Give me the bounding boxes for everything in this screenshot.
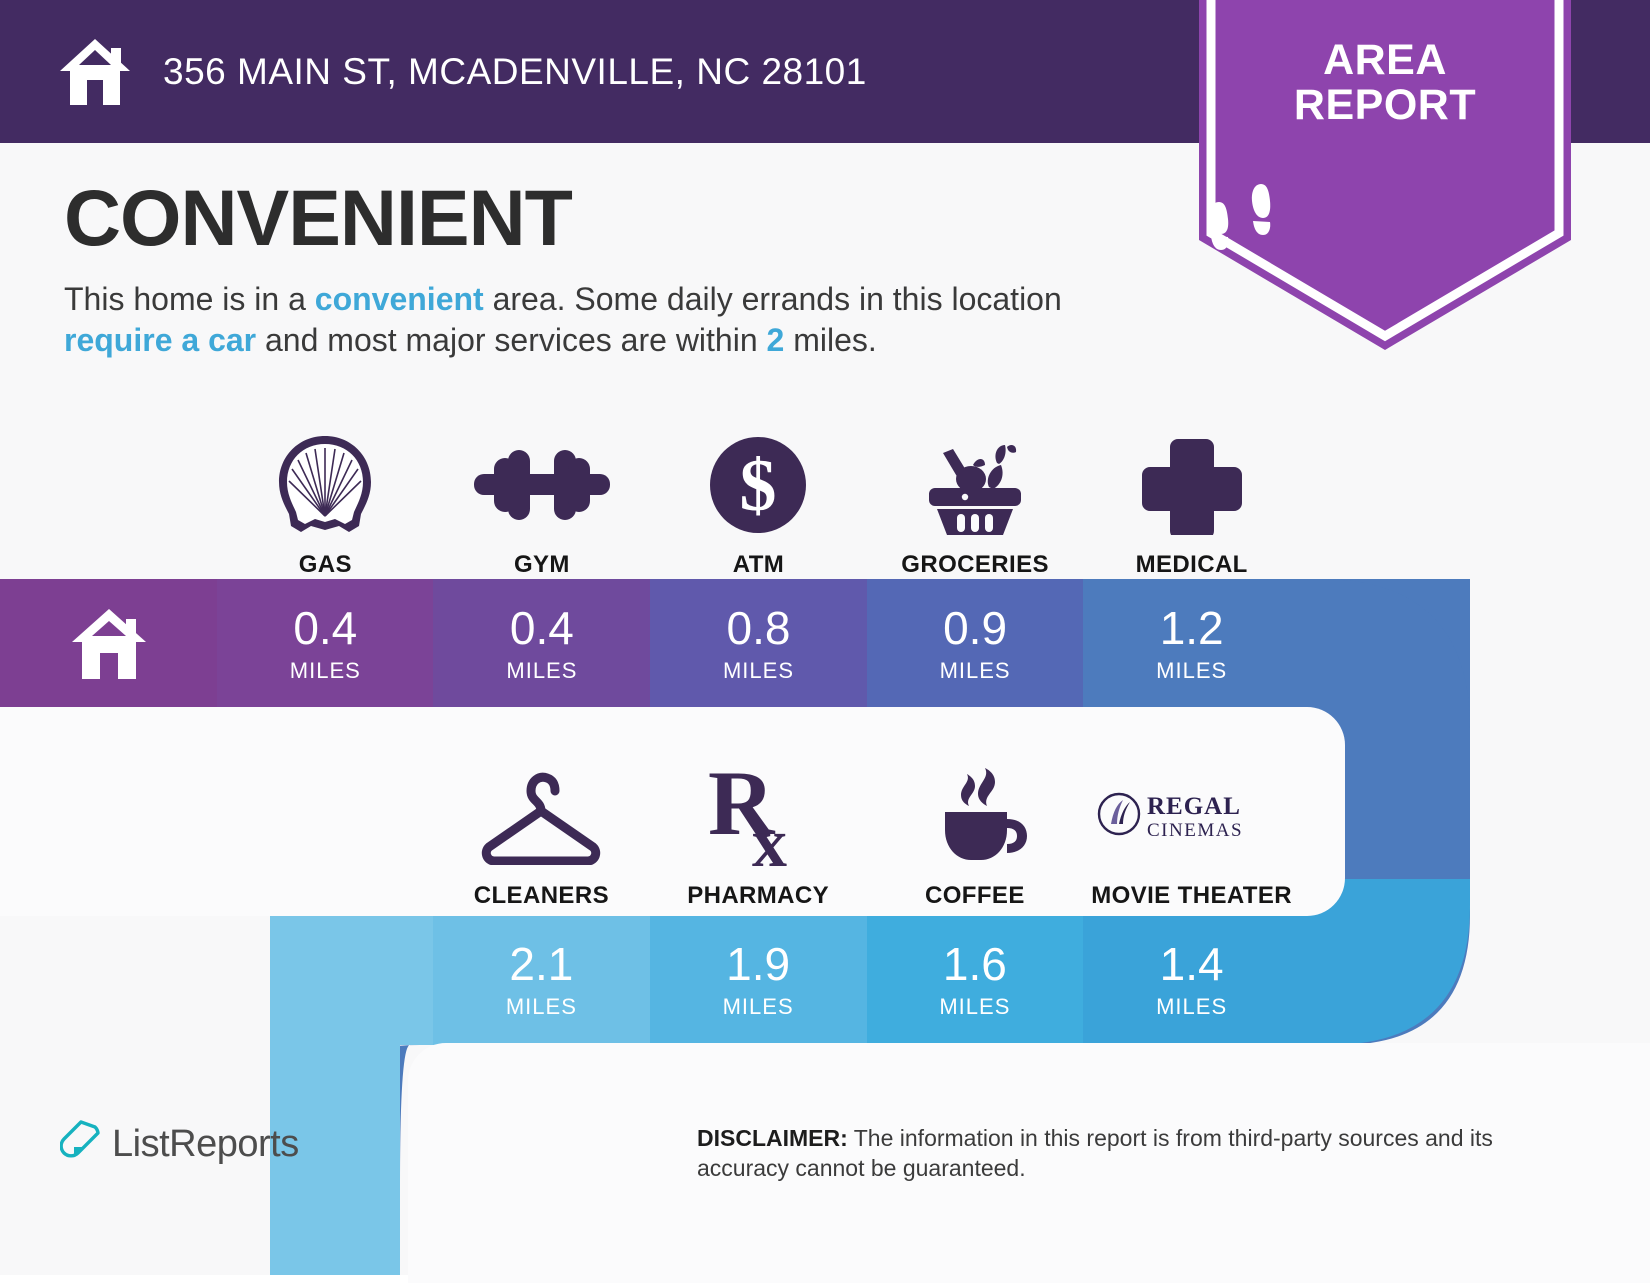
ribbon-segment-groceries: [867, 579, 1083, 709]
amenity-pharmacy: R x PHARMACY: [650, 760, 867, 910]
area-report-badge: AREA REPORT: [1199, 0, 1571, 350]
page-title: CONVENIENT: [64, 178, 1164, 257]
amenity-label: MEDICAL: [1136, 551, 1248, 579]
listreports-logo: ListReports: [60, 1119, 299, 1170]
medical-cross-icon: [1142, 431, 1242, 539]
ribbon-segment-coffee: [867, 915, 1083, 1045]
amenity-icon-row-2: CLEANERS R x PHARMACY COFFEE: [433, 760, 1300, 910]
amenity-icon-row-1: GAS GYM $ ATM: [217, 424, 1300, 579]
amenity-movie-theater: REGAL CINEMAS MOVIE THEATER: [1083, 760, 1300, 910]
amenity-label: GAS: [299, 551, 352, 579]
brand-name: ListReports: [112, 1123, 299, 1166]
footprints-icon: [1199, 178, 1571, 262]
svg-text:REGAL: REGAL: [1147, 793, 1241, 820]
amenity-cleaners: CLEANERS: [433, 760, 650, 910]
ribbon-segment-gas: [217, 579, 433, 709]
disclaimer-label: DISCLAIMER:: [697, 1125, 848, 1151]
amenity-coffee: COFFEE: [867, 760, 1084, 910]
subtitle-highlight-3: 2: [767, 322, 785, 358]
amenity-label: GYM: [514, 551, 570, 579]
dollar-circle-icon: $: [708, 431, 808, 539]
coffee-cup-icon: [923, 762, 1027, 870]
ribbon-segment-movie: [1083, 915, 1300, 1045]
amenity-groceries: GROCERIES: [867, 424, 1084, 579]
listreports-leaf-icon: [60, 1119, 102, 1170]
ribbon-segment-medical: [1083, 579, 1300, 709]
title-block: CONVENIENT This home is in a convenient …: [64, 178, 1164, 361]
badge-title: AREA REPORT: [1199, 38, 1571, 128]
amenity-label: PHARMACY: [687, 882, 829, 910]
amenity-gas: GAS: [217, 424, 434, 579]
amenity-label: COFFEE: [925, 882, 1025, 910]
ribbon-segment-gym: [433, 579, 650, 709]
subtitle-part-1: This home is in a: [64, 281, 315, 317]
svg-text:CINEMAS: CINEMAS: [1147, 820, 1243, 841]
subtitle-highlight-1: convenient: [315, 281, 484, 317]
amenity-gym: GYM: [434, 424, 651, 579]
clothes-hanger-icon: [475, 762, 607, 870]
ribbon-segment-pharmacy: [650, 915, 867, 1045]
regal-cinemas-logo: REGAL CINEMAS: [1097, 762, 1287, 870]
svg-text:x: x: [752, 805, 787, 868]
dumbbell-icon: [474, 431, 610, 539]
amenity-label: GROCERIES: [901, 551, 1049, 579]
rx-icon: R x: [706, 762, 810, 870]
amenity-label: MOVIE THEATER: [1091, 882, 1292, 910]
subtitle-highlight-2: require a car: [64, 322, 256, 358]
amenity-medical: MEDICAL: [1083, 424, 1300, 579]
svg-text:$: $: [740, 445, 777, 527]
subtitle-part-2: area. Some daily errands in this locatio…: [484, 281, 1062, 317]
amenity-label: CLEANERS: [474, 882, 609, 910]
ribbon-segment-atm: [650, 579, 867, 709]
shell-gas-icon: [275, 431, 375, 539]
amenity-atm: $ ATM: [650, 424, 867, 579]
badge-line-2: REPORT: [1199, 83, 1571, 128]
disclaimer: DISCLAIMER: The information in this repo…: [697, 1123, 1509, 1184]
home-icon: [69, 606, 149, 682]
ribbon-segment-lead: [270, 915, 433, 1045]
subtitle-part-3: and most major services are within: [256, 322, 766, 358]
subtitle-part-4: miles.: [784, 322, 876, 358]
badge-line-1: AREA: [1199, 38, 1571, 83]
ribbon-segment-cleaners: [433, 915, 650, 1045]
page-subtitle: This home is in a convenient area. Some …: [64, 279, 1124, 361]
amenity-label: ATM: [733, 551, 784, 579]
grocery-basket-icon: [919, 431, 1031, 539]
home-marker-cell: [0, 579, 217, 709]
